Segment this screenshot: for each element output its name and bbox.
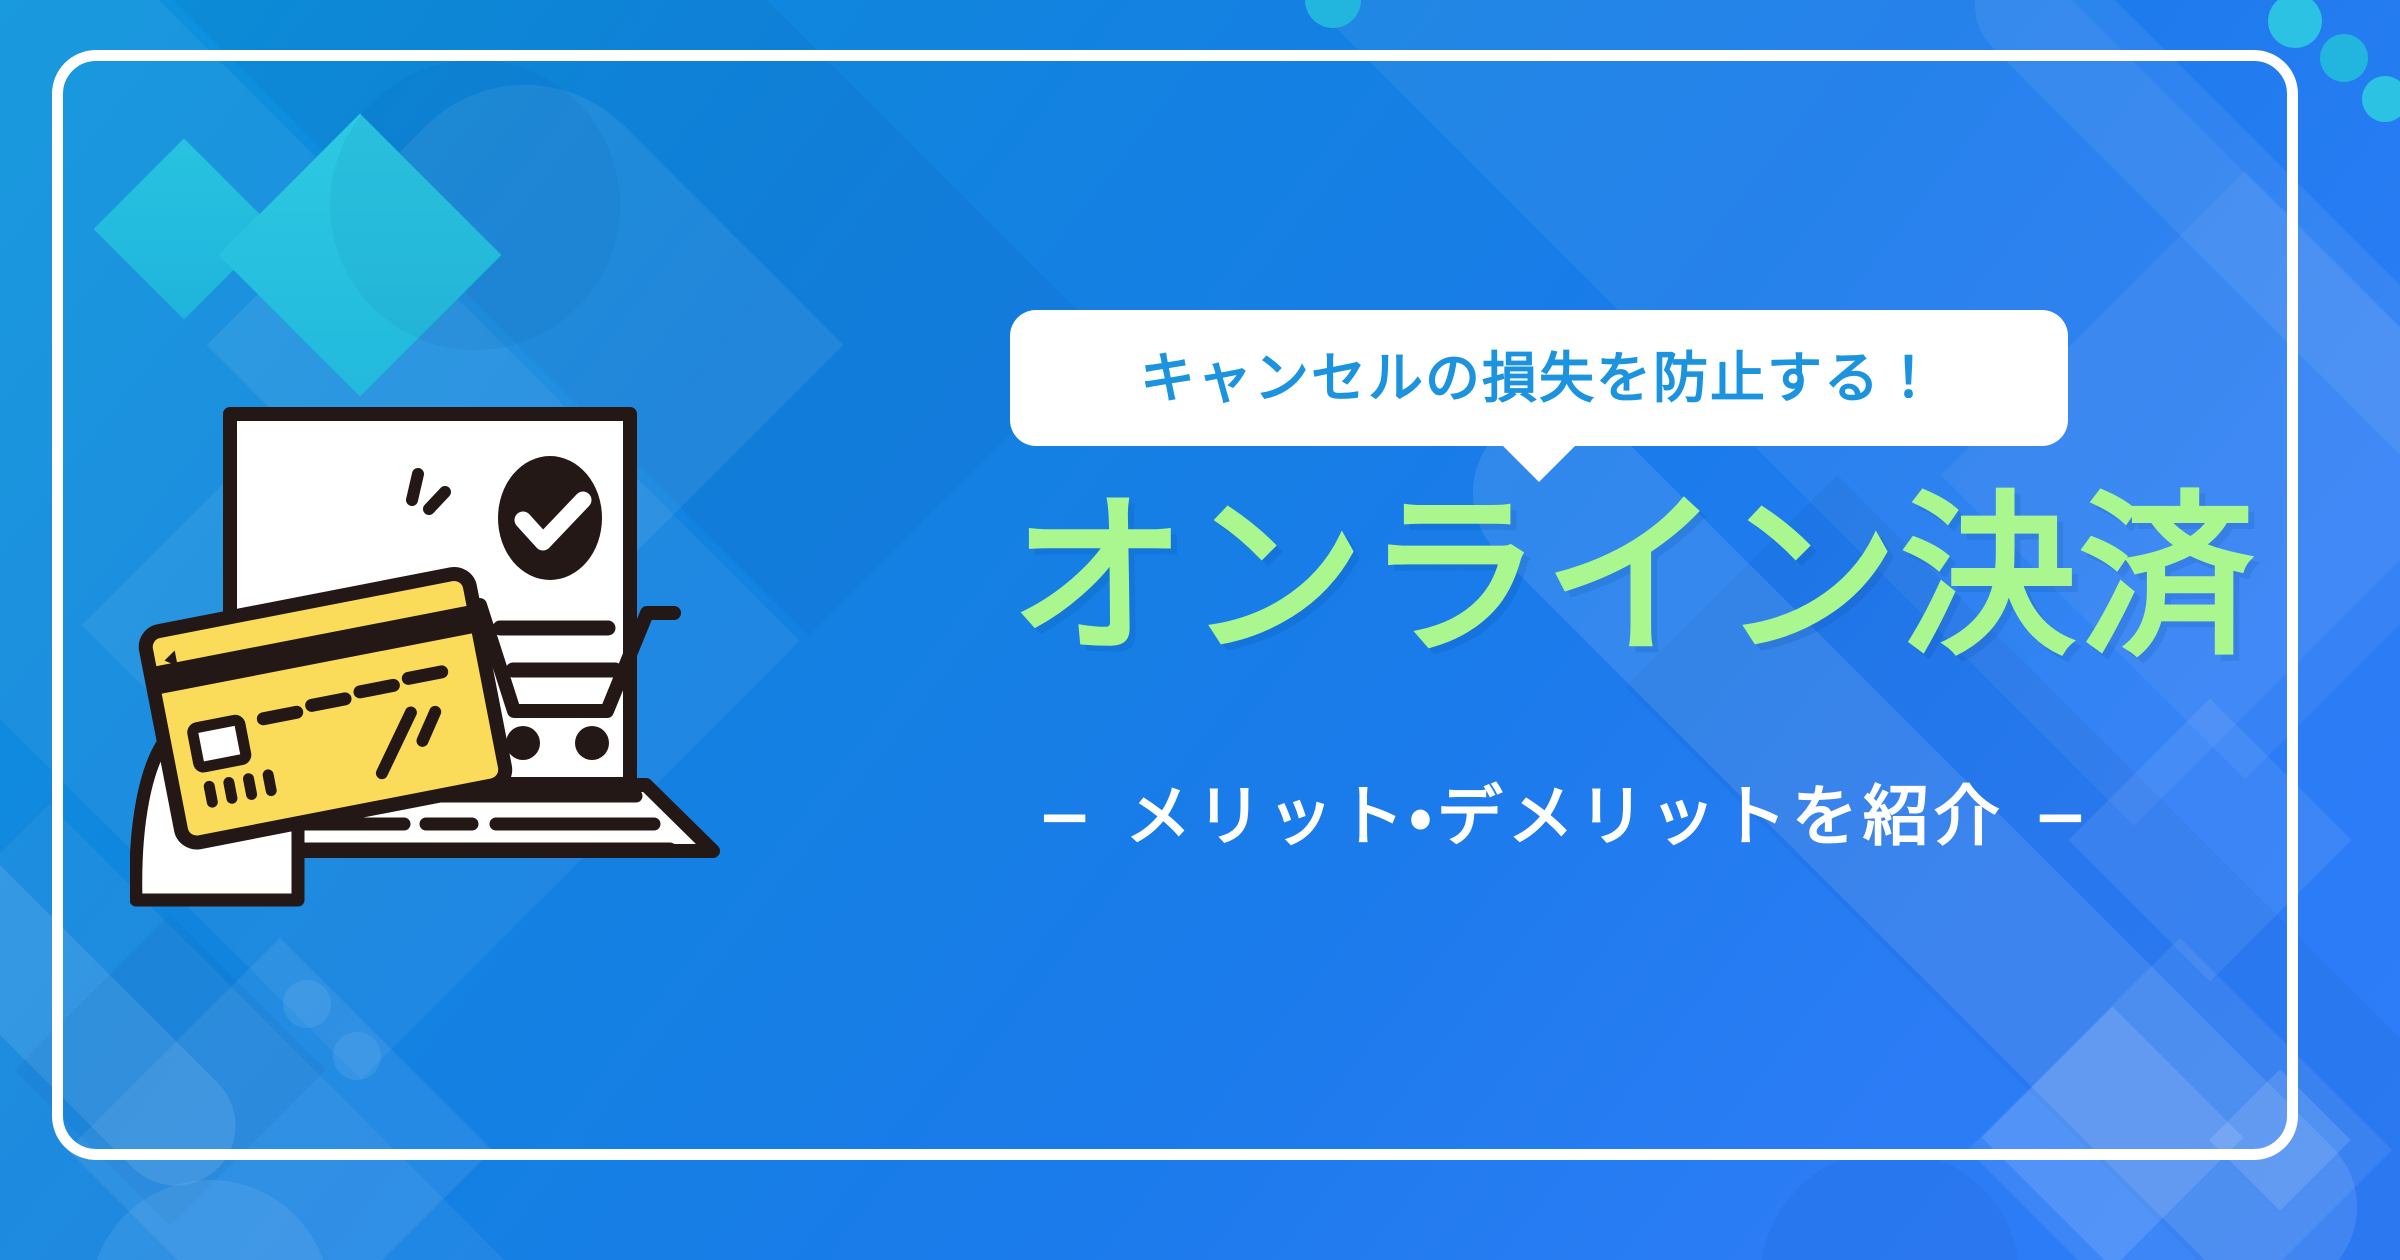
callout-bubble: キャンセルの損失を防止する！ [1010, 310, 2068, 446]
text-block: キャンセルの損失を防止する！ オンライン決済 − メリット・デメリットを紹介 − [1010, 310, 2120, 850]
illustration [130, 400, 910, 920]
page-title: オンライン決済 [1010, 490, 2120, 666]
accent-circle [2362, 76, 2400, 122]
accent-circle [1305, 0, 1361, 28]
bubble-tail-icon [1502, 445, 1576, 482]
page-subtitle: − メリット・デメリットを紹介 − [1010, 784, 2120, 850]
accent-circle [1760, 1150, 2020, 1260]
accent-circle [2320, 34, 2368, 82]
callout-bubble-text: キャンセルの損失を防止する！ [1140, 351, 1938, 406]
banner-canvas: キャンセルの損失を防止する！ オンライン決済 − メリット・デメリットを紹介 − [0, 0, 2400, 1260]
accent-circle [90, 1180, 330, 1260]
accent-circle [2268, 0, 2322, 48]
